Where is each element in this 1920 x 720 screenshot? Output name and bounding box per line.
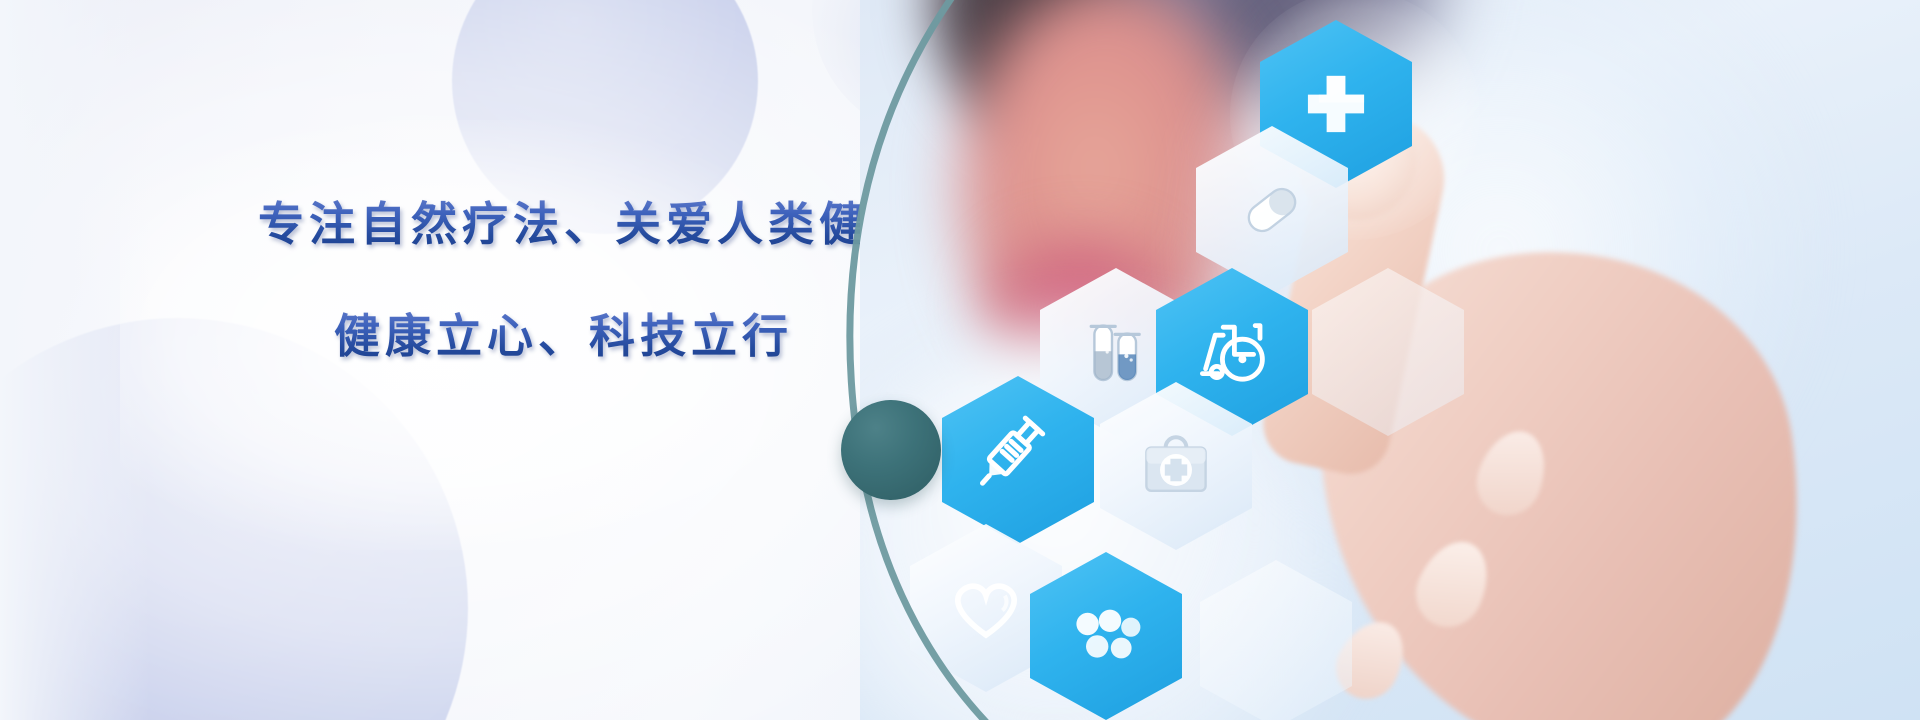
- headline-line-2: 健康立心、科技立行: [334, 300, 793, 366]
- left-edge-fade: [0, 0, 150, 720]
- hexagon-ghost-1: [1312, 268, 1464, 436]
- teal-dot: [841, 400, 941, 500]
- teal-arc-curve: [760, 0, 1160, 720]
- hexagon-ghost-2: [1200, 560, 1352, 720]
- wheelchair-glyph: [1188, 308, 1276, 396]
- hero-banner: 专注自然疗法、关爱人类健康 健康立心、科技立行: [0, 0, 1920, 720]
- pill-glyph: [1229, 167, 1315, 253]
- cross-glyph: [1297, 65, 1375, 143]
